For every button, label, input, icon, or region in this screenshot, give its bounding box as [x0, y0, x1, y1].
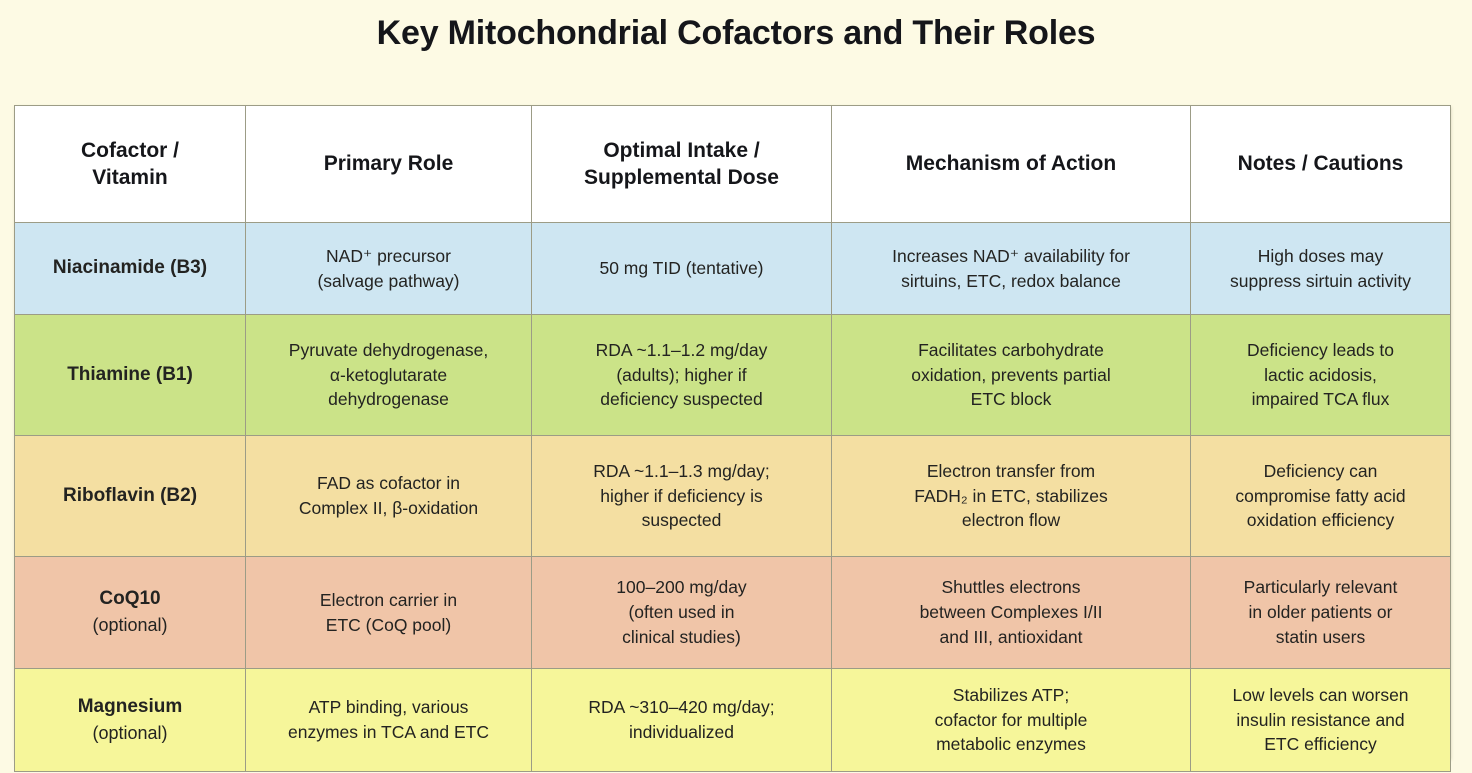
mechanism-line-text: Shuttles electrons — [941, 577, 1080, 597]
dose-line-text: (often used in — [628, 602, 734, 622]
notes-line: compromise fatty acid — [1201, 484, 1440, 509]
dose-line: (often used in — [542, 600, 821, 625]
dose-line: deficiency suspected — [542, 387, 821, 412]
mechanism-line-text: Electron transfer from — [927, 461, 1095, 481]
primary-role-line-text: Complex II, β-oxidation — [299, 498, 478, 518]
page-canvas: Key Mitochondrial Cofactors and Their Ro… — [0, 0, 1472, 773]
cell-cofactor-name: Niacinamide (B3) — [15, 223, 246, 315]
notes-line: oxidation efficiency — [1201, 508, 1440, 533]
notes-line: in older patients or — [1201, 600, 1440, 625]
column-header-notes-line-1: Notes / Cautions — [1201, 150, 1440, 177]
mechanism-line-text: Stabilizes ATP; — [953, 685, 1069, 705]
mechanism-line-text: ETC block — [971, 389, 1052, 409]
table-header: Cofactor / Vitamin Primary Role Optimal … — [15, 106, 1451, 223]
dose-line: RDA ~1.1–1.2 mg/day — [542, 338, 821, 363]
cell-primary-role: Electron carrier in ETC (CoQ pool) — [246, 557, 532, 669]
dose-line: higher if deficiency is — [542, 484, 821, 509]
notes-line-text: Deficiency leads to — [1247, 340, 1394, 360]
dose-line: 50 mg TID (tentative) — [542, 256, 821, 281]
notes-line-text: Deficiency can — [1264, 461, 1378, 481]
primary-role-line: dehydrogenase — [256, 387, 521, 412]
column-header-cofactor-line-1: Cofactor / — [25, 137, 235, 164]
cofactor-qualifier-text: (optional) — [25, 613, 235, 639]
mechanism-line-text: cofactor for multiple — [935, 710, 1088, 730]
cell-primary-role: FAD as cofactor in Complex II, β-oxidati… — [246, 436, 532, 557]
notes-line-text: insulin resistance and — [1236, 710, 1404, 730]
notes-line: lactic acidosis, — [1201, 363, 1440, 388]
primary-role-line-text: ATP binding, various — [309, 697, 469, 717]
dose-line: individualized — [542, 720, 821, 745]
notes-line: suppress sirtuin activity — [1201, 269, 1440, 294]
dose-line-text: (adults); higher if — [616, 365, 746, 385]
cell-dose: RDA ~1.1–1.3 mg/day; higher if deficienc… — [532, 436, 832, 557]
cell-notes: Low levels can worsen insulin resistance… — [1191, 669, 1451, 772]
cell-notes: Deficiency can compromise fatty acid oxi… — [1191, 436, 1451, 557]
table-row: Niacinamide (B3) NAD⁺ precursor (salvage… — [15, 223, 1451, 315]
mechanism-line-text: electron flow — [962, 510, 1060, 530]
notes-line: impaired TCA flux — [1201, 387, 1440, 412]
mechanism-line-text: sirtuins, ETC, redox balance — [901, 271, 1121, 291]
cell-primary-role: Pyruvate dehydrogenase, α-ketoglutarate … — [246, 315, 532, 436]
mechanism-line: metabolic enzymes — [842, 732, 1180, 757]
dose-line: RDA ~310–420 mg/day; — [542, 695, 821, 720]
mechanism-line: Increases NAD⁺ availability for — [842, 244, 1180, 269]
dose-line-text: RDA ~1.1–1.2 mg/day — [596, 340, 768, 360]
cell-dose: 100–200 mg/day (often used in clinical s… — [532, 557, 832, 669]
mechanism-line: cofactor for multiple — [842, 708, 1180, 733]
cell-cofactor-name: Riboflavin (B2) — [15, 436, 246, 557]
dose-line-text: RDA ~310–420 mg/day; — [588, 697, 774, 717]
primary-role-line: ETC (CoQ pool) — [256, 613, 521, 638]
mechanism-line: Facilitates carbohydrate — [842, 338, 1180, 363]
dose-line-text: clinical studies) — [622, 627, 741, 647]
primary-role-line: (salvage pathway) — [256, 269, 521, 294]
cell-mechanism: Increases NAD⁺ availability for sirtuins… — [832, 223, 1191, 315]
dose-line-text: 100–200 mg/day — [616, 577, 746, 597]
cofactor-name-text: Thiamine (B1) — [67, 364, 193, 385]
column-header-optimal-intake-line-2: Supplemental Dose — [542, 164, 821, 191]
primary-role-line-text: (salvage pathway) — [317, 271, 459, 291]
notes-line: Deficiency can — [1201, 459, 1440, 484]
cofactor-name-text: Niacinamide (B3) — [53, 257, 207, 278]
notes-line-text: suppress sirtuin activity — [1230, 271, 1411, 291]
notes-line-text: ETC efficiency — [1264, 734, 1377, 754]
notes-line: Deficiency leads to — [1201, 338, 1440, 363]
dose-line-text: RDA ~1.1–1.3 mg/day; — [593, 461, 770, 481]
mechanism-line: between Complexes I/II — [842, 600, 1180, 625]
primary-role-line-text: NAD⁺ precursor — [326, 246, 451, 266]
cell-cofactor-name: Thiamine (B1) — [15, 315, 246, 436]
notes-line-text: Low levels can worsen — [1232, 685, 1408, 705]
cell-dose: 50 mg TID (tentative) — [532, 223, 832, 315]
primary-role-line: Pyruvate dehydrogenase, — [256, 338, 521, 363]
dose-line-text: higher if deficiency is — [600, 486, 762, 506]
cell-notes: Particularly relevant in older patients … — [1191, 557, 1451, 669]
cell-dose: RDA ~1.1–1.2 mg/day (adults); higher if … — [532, 315, 832, 436]
primary-role-line-text: enzymes in TCA and ETC — [288, 722, 489, 742]
primary-role-line-text: Electron carrier in — [320, 590, 457, 610]
mechanism-line-text: Facilitates carbohydrate — [918, 340, 1104, 360]
notes-line: High doses may — [1201, 244, 1440, 269]
notes-line: ETC efficiency — [1201, 732, 1440, 757]
notes-line: insulin resistance and — [1201, 708, 1440, 733]
mechanism-line: FADH₂ in ETC, stabilizes — [842, 484, 1180, 509]
cofactor-name-text: Magnesium — [78, 696, 183, 717]
cell-mechanism: Facilitates carbohydrate oxidation, prev… — [832, 315, 1191, 436]
cell-cofactor-name: Magnesium (optional) — [15, 669, 246, 772]
column-header-cofactor: Cofactor / Vitamin — [15, 106, 246, 223]
primary-role-line: NAD⁺ precursor — [256, 244, 521, 269]
table-row: Riboflavin (B2) FAD as cofactor in Compl… — [15, 436, 1451, 557]
mechanism-line-text: Increases NAD⁺ availability for — [892, 246, 1130, 266]
mechanism-line: oxidation, prevents partial — [842, 363, 1180, 388]
column-header-optimal-intake: Optimal Intake / Supplemental Dose — [532, 106, 832, 223]
primary-role-line: ATP binding, various — [256, 695, 521, 720]
dose-line: 100–200 mg/day — [542, 575, 821, 600]
primary-role-line-text: FAD as cofactor in — [317, 473, 460, 493]
primary-role-line: α-ketoglutarate — [256, 363, 521, 388]
notes-line-text: impaired TCA flux — [1252, 389, 1390, 409]
mechanism-line: ETC block — [842, 387, 1180, 412]
notes-line-text: High doses may — [1258, 246, 1383, 266]
column-header-cofactor-line-2: Vitamin — [25, 164, 235, 191]
mechanism-line: Stabilizes ATP; — [842, 683, 1180, 708]
cofactor-table-wrapper: Cofactor / Vitamin Primary Role Optimal … — [14, 105, 1450, 758]
column-header-mechanism: Mechanism of Action — [832, 106, 1191, 223]
table-body: Niacinamide (B3) NAD⁺ precursor (salvage… — [15, 223, 1451, 772]
mechanism-line-text: between Complexes I/II — [920, 602, 1103, 622]
table-row: Magnesium (optional) ATP binding, variou… — [15, 669, 1451, 772]
primary-role-line-text: Pyruvate dehydrogenase, — [289, 340, 488, 360]
primary-role-line-text: dehydrogenase — [328, 389, 449, 409]
primary-role-line: Complex II, β-oxidation — [256, 496, 521, 521]
notes-line: Particularly relevant — [1201, 575, 1440, 600]
cell-notes: High doses may suppress sirtuin activity — [1191, 223, 1451, 315]
page-title: Key Mitochondrial Cofactors and Their Ro… — [0, 14, 1472, 53]
cofactor-qualifier-text: (optional) — [25, 721, 235, 747]
cell-notes: Deficiency leads to lactic acidosis, imp… — [1191, 315, 1451, 436]
mechanism-line: Shuttles electrons — [842, 575, 1180, 600]
primary-role-line: Electron carrier in — [256, 588, 521, 613]
cell-dose: RDA ~310–420 mg/day; individualized — [532, 669, 832, 772]
table-header-row: Cofactor / Vitamin Primary Role Optimal … — [15, 106, 1451, 223]
notes-line-text: statin users — [1276, 627, 1365, 647]
dose-line: suspected — [542, 508, 821, 533]
dose-line-text: 50 mg TID (tentative) — [599, 258, 763, 278]
mechanism-line-text: oxidation, prevents partial — [911, 365, 1110, 385]
cofactor-name-text: CoQ10 — [99, 588, 160, 609]
column-header-optimal-intake-line-1: Optimal Intake / — [542, 137, 821, 164]
mechanism-line-text: FADH₂ in ETC, stabilizes — [914, 486, 1108, 506]
notes-line-text: in older patients or — [1249, 602, 1393, 622]
primary-role-line-text: α-ketoglutarate — [330, 365, 447, 385]
column-header-primary-role: Primary Role — [246, 106, 532, 223]
mechanism-line: electron flow — [842, 508, 1180, 533]
dose-line-text: individualized — [629, 722, 734, 742]
dose-line: RDA ~1.1–1.3 mg/day; — [542, 459, 821, 484]
cell-primary-role: NAD⁺ precursor (salvage pathway) — [246, 223, 532, 315]
mechanism-line-text: and III, antioxidant — [939, 627, 1082, 647]
notes-line: Low levels can worsen — [1201, 683, 1440, 708]
cell-mechanism: Stabilizes ATP; cofactor for multiple me… — [832, 669, 1191, 772]
notes-line: statin users — [1201, 625, 1440, 650]
mechanism-line: and III, antioxidant — [842, 625, 1180, 650]
mechanism-line-text: metabolic enzymes — [936, 734, 1086, 754]
column-header-notes: Notes / Cautions — [1191, 106, 1451, 223]
primary-role-line: enzymes in TCA and ETC — [256, 720, 521, 745]
column-header-primary-role-line-1: Primary Role — [256, 150, 521, 177]
cell-mechanism: Shuttles electrons between Complexes I/I… — [832, 557, 1191, 669]
notes-line-text: oxidation efficiency — [1247, 510, 1395, 530]
cell-mechanism: Electron transfer from FADH₂ in ETC, sta… — [832, 436, 1191, 557]
cofactor-name-text: Riboflavin (B2) — [63, 485, 197, 506]
primary-role-line-text: ETC (CoQ pool) — [326, 615, 451, 635]
dose-line-text: suspected — [642, 510, 722, 530]
table-row: CoQ10 (optional) Electron carrier in ETC… — [15, 557, 1451, 669]
notes-line-text: compromise fatty acid — [1235, 486, 1405, 506]
notes-line-text: Particularly relevant — [1244, 577, 1398, 597]
primary-role-line: FAD as cofactor in — [256, 471, 521, 496]
cell-primary-role: ATP binding, various enzymes in TCA and … — [246, 669, 532, 772]
dose-line-text: deficiency suspected — [600, 389, 762, 409]
mechanism-line: sirtuins, ETC, redox balance — [842, 269, 1180, 294]
notes-line-text: lactic acidosis, — [1264, 365, 1377, 385]
table-row: Thiamine (B1) Pyruvate dehydrogenase, α-… — [15, 315, 1451, 436]
mechanism-line: Electron transfer from — [842, 459, 1180, 484]
cofactor-table: Cofactor / Vitamin Primary Role Optimal … — [14, 105, 1451, 772]
cell-cofactor-name: CoQ10 (optional) — [15, 557, 246, 669]
dose-line: (adults); higher if — [542, 363, 821, 388]
dose-line: clinical studies) — [542, 625, 821, 650]
column-header-mechanism-line-1: Mechanism of Action — [842, 150, 1180, 177]
